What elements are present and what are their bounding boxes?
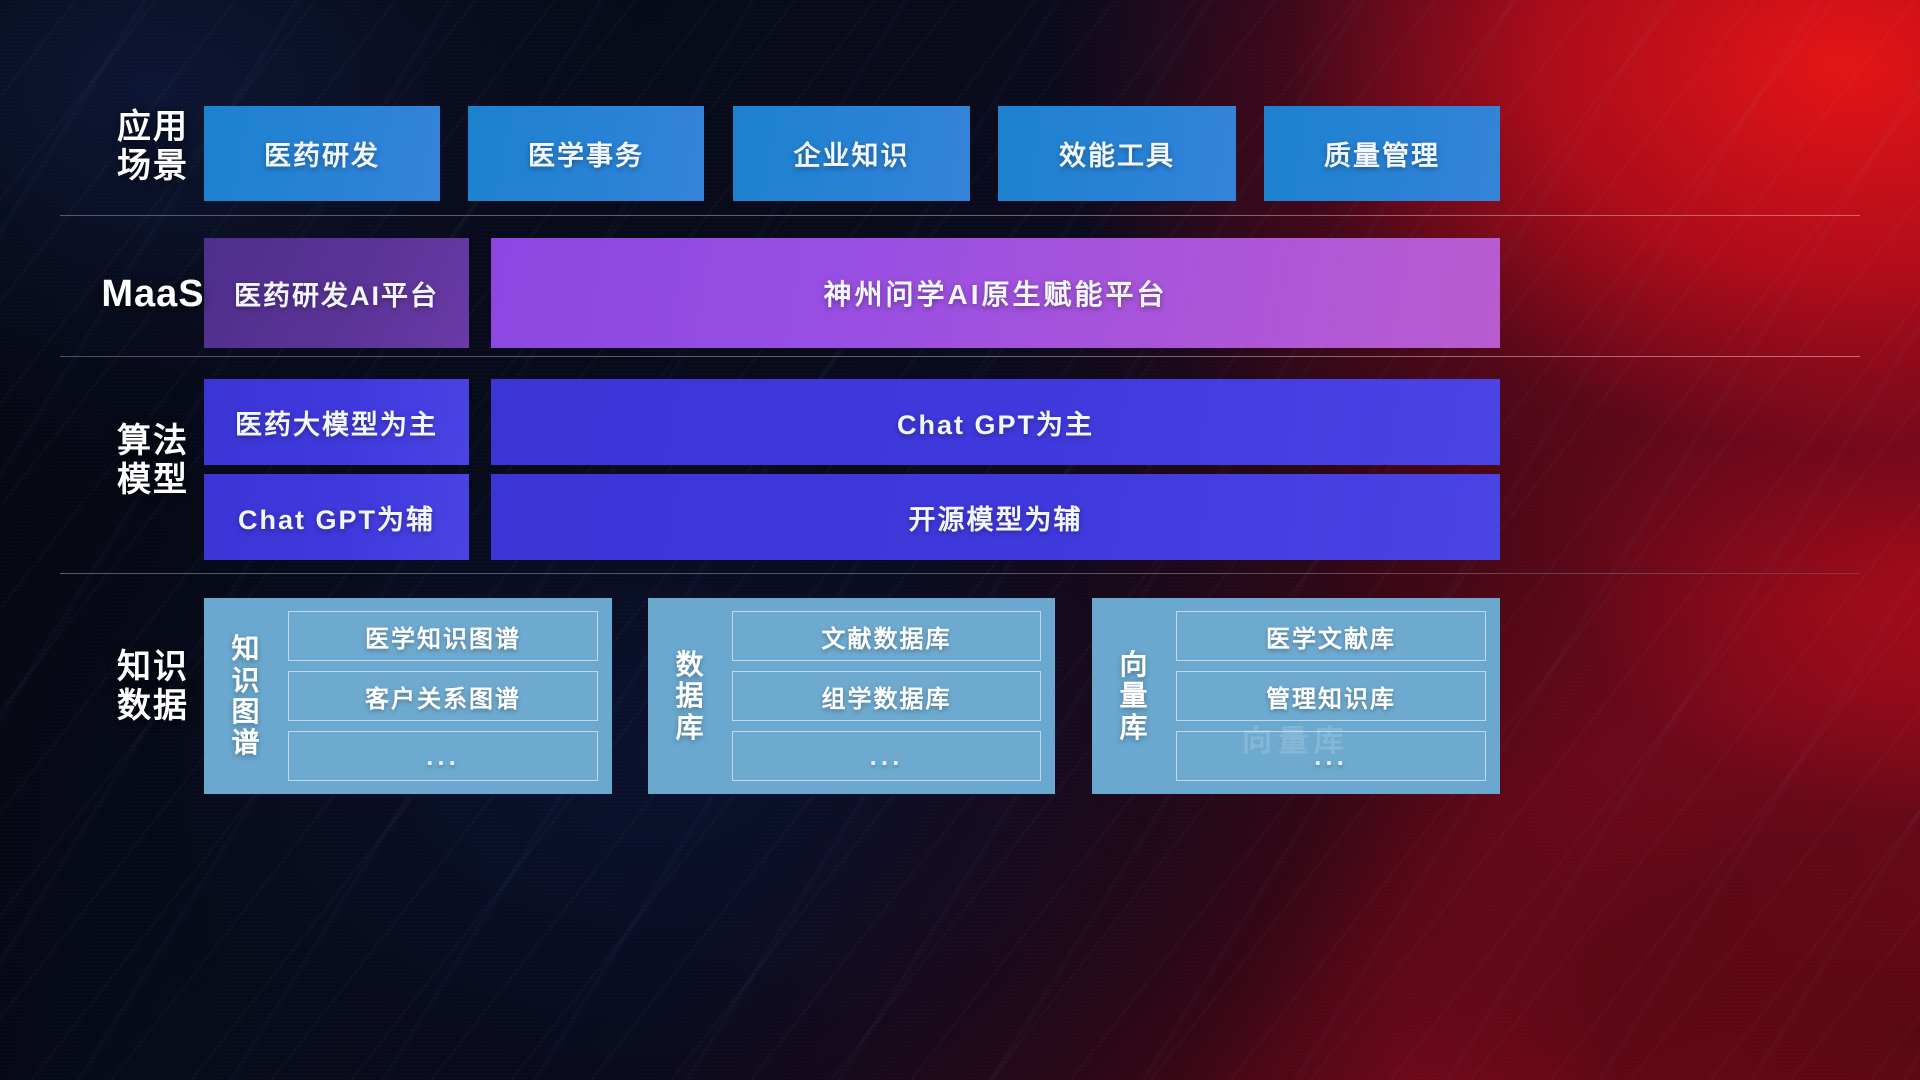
row-label-maas: MaaS bbox=[78, 272, 228, 316]
knowledge-item-1-2[interactable]: 客户关系图谱 bbox=[288, 671, 598, 721]
app-scenario-card-1[interactable]: 医药研发 bbox=[204, 106, 440, 201]
row-label-application-line1: 应用 bbox=[78, 108, 228, 147]
row-label-maas-text: MaaS bbox=[78, 272, 228, 316]
app-scenario-label-1: 医药研发 bbox=[264, 134, 380, 173]
algorithm-left-primary-label: 医药大模型为主 bbox=[235, 403, 438, 442]
row-label-algorithm-line1: 算法 bbox=[78, 422, 228, 461]
algorithm-card-left-secondary[interactable]: Chat GPT为辅 bbox=[204, 474, 469, 560]
knowledge-item-2-3[interactable]: ... bbox=[732, 731, 1041, 781]
row-label-knowledge-line1: 知识 bbox=[78, 648, 228, 687]
maas-platform-card-right[interactable]: 神州问学AI原生赋能平台 bbox=[491, 238, 1500, 348]
knowledge-item-2-1[interactable]: 文献数据库 bbox=[732, 611, 1041, 661]
row-label-algorithm: 算法 模型 bbox=[78, 422, 228, 501]
row-label-application: 应用 场景 bbox=[78, 108, 228, 187]
maas-platform-left-label: 医药研发AI平台 bbox=[234, 274, 439, 313]
app-scenario-label-2: 医学事务 bbox=[528, 134, 644, 173]
knowledge-panel-database[interactable]: 数据库 文献数据库 组学数据库 ... bbox=[648, 598, 1055, 794]
knowledge-item-3-1[interactable]: 医学文献库 bbox=[1176, 611, 1486, 661]
app-scenario-label-4: 效能工具 bbox=[1059, 134, 1175, 173]
maas-platform-card-left[interactable]: 医药研发AI平台 bbox=[204, 238, 469, 348]
row-label-application-line2: 场景 bbox=[78, 147, 228, 186]
divider-maas bbox=[60, 356, 1860, 357]
slide-canvas: 应用 场景 医药研发 医学事务 企业知识 效能工具 质量管理 MaaS 医药研发… bbox=[0, 0, 1920, 1080]
app-scenario-card-5[interactable]: 质量管理 bbox=[1264, 106, 1500, 201]
row-label-algorithm-line2: 模型 bbox=[78, 461, 228, 500]
divider-application bbox=[60, 215, 1860, 216]
knowledge-panel-title-2: 数据库 bbox=[662, 611, 718, 781]
app-scenario-card-2[interactable]: 医学事务 bbox=[468, 106, 704, 201]
app-scenario-label-5: 质量管理 bbox=[1324, 134, 1440, 173]
knowledge-panel-vector-database[interactable]: 向量库 医学文献库 管理知识库 ... 向量库 bbox=[1092, 598, 1500, 794]
algorithm-card-left-primary[interactable]: 医药大模型为主 bbox=[204, 379, 469, 465]
knowledge-item-1-3[interactable]: ... bbox=[288, 731, 598, 781]
algorithm-left-secondary-label: Chat GPT为辅 bbox=[238, 498, 435, 537]
knowledge-item-1-1[interactable]: 医学知识图谱 bbox=[288, 611, 598, 661]
row-label-knowledge-line2: 数据 bbox=[78, 687, 228, 726]
app-scenario-card-4[interactable]: 效能工具 bbox=[998, 106, 1236, 201]
row-label-knowledge: 知识 数据 bbox=[78, 648, 228, 727]
knowledge-item-2-2[interactable]: 组学数据库 bbox=[732, 671, 1041, 721]
knowledge-panel-items-3: 医学文献库 管理知识库 ... bbox=[1176, 611, 1486, 781]
divider-algorithm bbox=[60, 573, 1860, 574]
app-scenario-label-3: 企业知识 bbox=[794, 134, 910, 173]
app-scenario-card-3[interactable]: 企业知识 bbox=[733, 106, 970, 201]
algorithm-card-right-primary[interactable]: Chat GPT为主 bbox=[491, 379, 1500, 465]
knowledge-item-3-3[interactable]: ... bbox=[1176, 731, 1486, 781]
knowledge-panel-items-2: 文献数据库 组学数据库 ... bbox=[732, 611, 1041, 781]
knowledge-item-3-2[interactable]: 管理知识库 bbox=[1176, 671, 1486, 721]
knowledge-panel-items-1: 医学知识图谱 客户关系图谱 ... bbox=[288, 611, 598, 781]
algorithm-card-right-secondary[interactable]: 开源模型为辅 bbox=[491, 474, 1500, 560]
algorithm-right-primary-label: Chat GPT为主 bbox=[897, 403, 1094, 442]
knowledge-panel-knowledge-graph[interactable]: 知识图谱 医学知识图谱 客户关系图谱 ... bbox=[204, 598, 612, 794]
knowledge-panel-title-3: 向量库 bbox=[1106, 611, 1162, 781]
algorithm-right-secondary-label: 开源模型为辅 bbox=[909, 498, 1083, 537]
maas-platform-right-label: 神州问学AI原生赋能平台 bbox=[823, 273, 1167, 313]
